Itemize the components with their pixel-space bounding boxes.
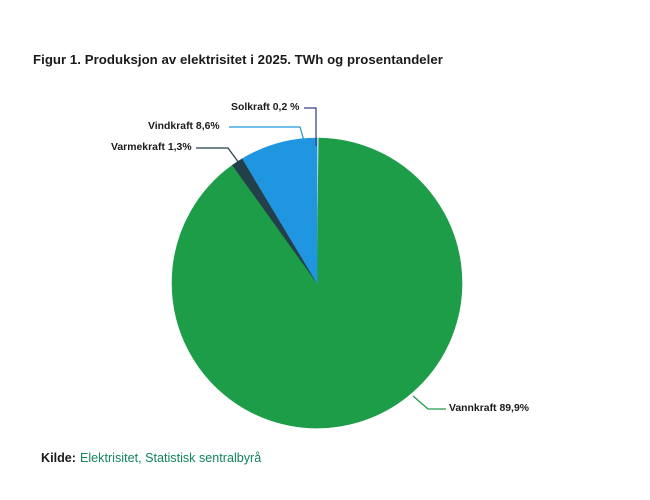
data-label-solkraft: Solkraft 0,2 % bbox=[231, 102, 299, 113]
pie-slices bbox=[172, 138, 462, 428]
data-label-vannkraft: Vannkraft 89,9% bbox=[449, 403, 529, 414]
data-label-varmekraft: Varmekraft 1,3% bbox=[111, 142, 192, 153]
source-label: Kilde: bbox=[41, 451, 76, 465]
data-label-vindkraft: Vindkraft 8,6% bbox=[148, 121, 220, 132]
figure-container: Figur 1. Produksjon av elektrisitet i 20… bbox=[0, 0, 650, 500]
leader-line-vannkraft bbox=[413, 396, 446, 409]
pie-chart bbox=[0, 0, 650, 500]
source-link[interactable]: Elektrisitet, Statistisk sentralbyrå bbox=[80, 451, 261, 465]
source-line: Kilde:Elektrisitet, Statistisk sentralby… bbox=[41, 451, 261, 465]
leader-line-varmekraft bbox=[196, 148, 239, 163]
